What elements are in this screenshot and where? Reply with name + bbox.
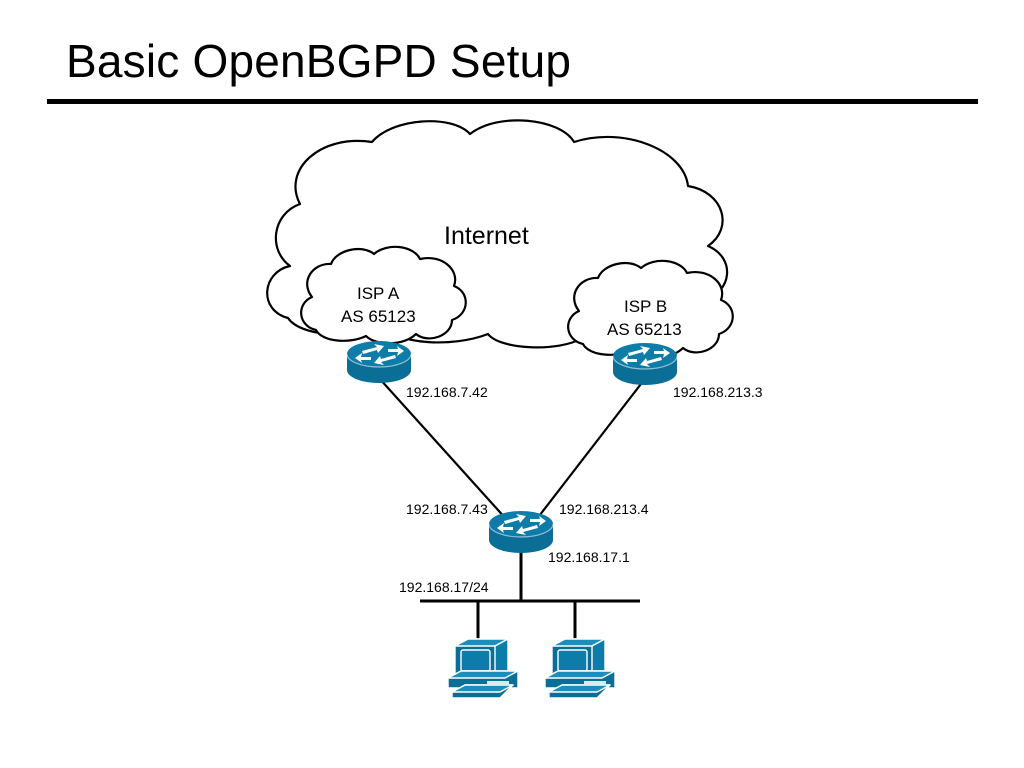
workstation-1-icon	[448, 639, 518, 698]
isp-a-uplink-ip-label: 192.168.7.42	[406, 385, 488, 399]
local-router-if-b-ip-label: 192.168.213.4	[559, 502, 649, 516]
local-router-icon	[489, 511, 553, 553]
lan-network-label: 192.168.17/24	[399, 580, 489, 594]
lan-bus	[420, 601, 640, 646]
link-isp-b-to-local	[536, 380, 644, 520]
isp-b-uplink-ip-label: 192.168.213.3	[673, 385, 763, 399]
local-router-lan-ip-label: 192.168.17.1	[548, 550, 630, 564]
slide-canvas: Basic OpenBGPD Setup	[0, 0, 1024, 768]
isp-a-name-label: ISP A	[357, 285, 399, 302]
isp-a-router-icon	[347, 341, 411, 383]
isp-b-as-label: AS 65213	[607, 321, 682, 338]
isp-b-name-label: ISP B	[624, 298, 667, 315]
network-diagram: Internet ISP A AS 65123 ISP B AS 65213 1…	[0, 0, 1024, 768]
isp-a-as-label: AS 65123	[341, 308, 416, 325]
local-router-if-a-ip-label: 192.168.7.43	[406, 502, 488, 516]
internet-cloud-label: Internet	[444, 224, 529, 249]
workstation-2-icon	[545, 639, 615, 698]
isp-b-router-icon	[613, 343, 677, 385]
